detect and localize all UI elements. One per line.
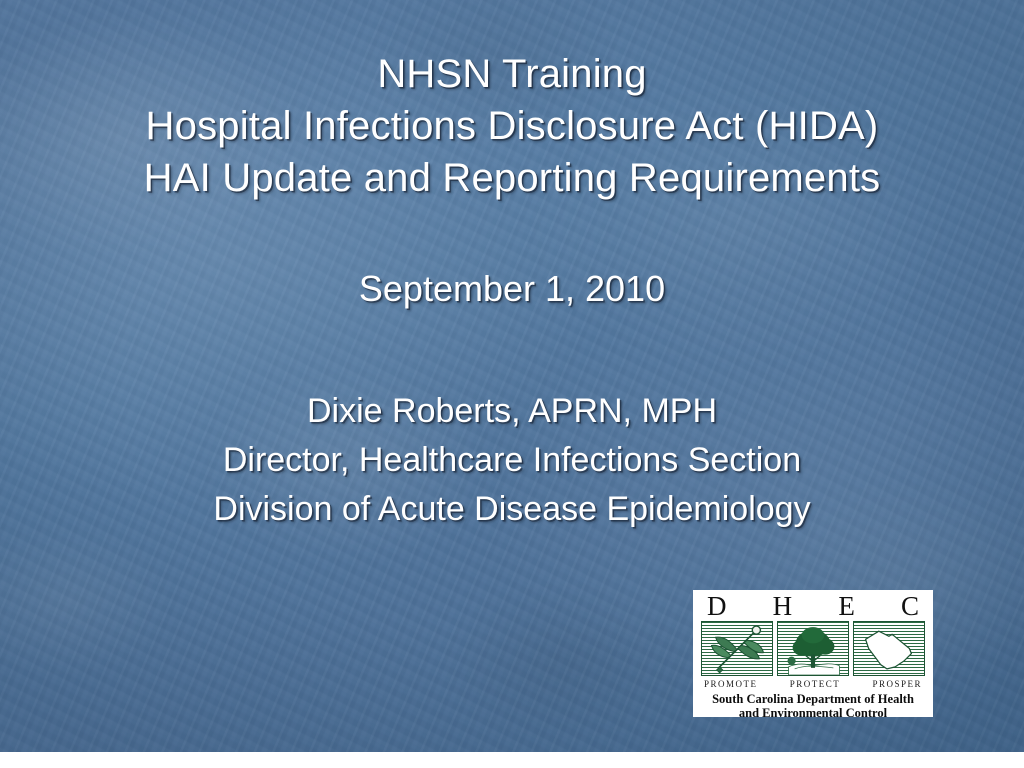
dhec-logo-panels bbox=[701, 621, 925, 676]
bottom-white-band bbox=[0, 752, 1024, 768]
tagline-promote: PROMOTE bbox=[704, 679, 758, 690]
tagline-prosper: PROSPER bbox=[872, 679, 922, 690]
dhec-letter-e: E bbox=[838, 593, 855, 620]
dhec-tagline: PROMOTE PROTECT PROSPER bbox=[701, 679, 925, 690]
presenter-name: Dixie Roberts, APRN, MPH bbox=[0, 387, 1024, 436]
dhec-letter-d: D bbox=[707, 593, 727, 620]
title-line-3: HAI Update and Reporting Requirements bbox=[0, 152, 1024, 204]
dhec-organization-name: South Carolina Department of Health and … bbox=[701, 692, 925, 720]
title-slide: NHSN Training Hospital Infections Disclo… bbox=[0, 0, 1024, 768]
south-carolina-map-icon bbox=[853, 621, 925, 676]
presenter-title: Director, Healthcare Infections Section bbox=[0, 436, 1024, 485]
presenter-block: Dixie Roberts, APRN, MPH Director, Healt… bbox=[0, 387, 1024, 534]
tagline-protect: PROTECT bbox=[790, 679, 841, 690]
dhec-letter-c: C bbox=[901, 593, 919, 620]
slide-title: NHSN Training Hospital Infections Disclo… bbox=[0, 48, 1024, 204]
presenter-division: Division of Acute Disease Epidemiology bbox=[0, 485, 1024, 534]
date-text: September 1, 2010 bbox=[0, 266, 1024, 312]
dhec-letter-h: H bbox=[773, 593, 793, 620]
title-line-1: NHSN Training bbox=[0, 48, 1024, 100]
organization-line-1: South Carolina Department of Health bbox=[701, 692, 925, 706]
tree-icon bbox=[777, 621, 849, 676]
dhec-letters: D H E C bbox=[701, 593, 925, 620]
organization-line-2: and Environmental Control bbox=[701, 706, 925, 720]
slide-date: September 1, 2010 bbox=[0, 266, 1024, 312]
dhec-logo: D H E C bbox=[693, 590, 933, 717]
title-line-2: Hospital Infections Disclosure Act (HIDA… bbox=[0, 100, 1024, 152]
caduceus-icon bbox=[701, 621, 773, 676]
